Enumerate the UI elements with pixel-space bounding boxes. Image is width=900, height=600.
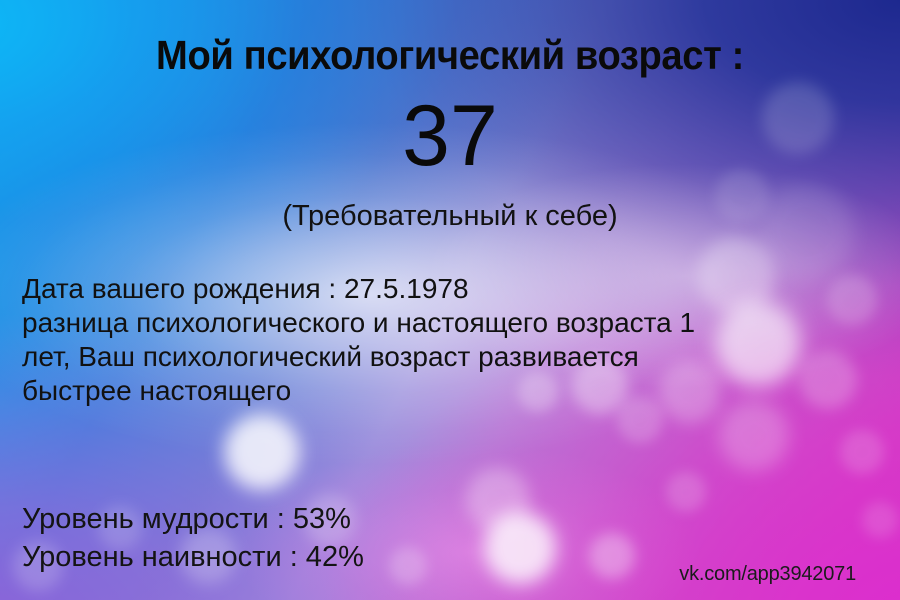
stats-block: Уровень мудрости : 53% Уровень наивности… (22, 500, 622, 576)
description-block: Дата вашего рождения : 27.5.1978 разница… (22, 272, 866, 408)
naivety-level-stat: Уровень наивности : 42% (22, 538, 622, 576)
description-line: лет, Ваш психологический возраст развива… (22, 340, 866, 374)
text-layer: Мой психологический возраст : 37 (Требов… (0, 0, 900, 600)
page-title: Мой психологический возраст : (32, 31, 869, 79)
psychological-age-card: Мой психологический возраст : 37 (Требов… (0, 0, 900, 600)
psychological-age-value: 37 (0, 88, 900, 184)
description-line: быстрее настоящего (22, 374, 866, 408)
description-line: Дата вашего рождения : 27.5.1978 (22, 272, 866, 306)
personality-trait-label: (Требовательный к себе) (0, 198, 900, 234)
watermark-link[interactable]: vk.com/app3942071 (679, 562, 856, 586)
wisdom-level-stat: Уровень мудрости : 53% (22, 500, 622, 538)
description-line: разница психологического и настоящего во… (22, 306, 866, 340)
